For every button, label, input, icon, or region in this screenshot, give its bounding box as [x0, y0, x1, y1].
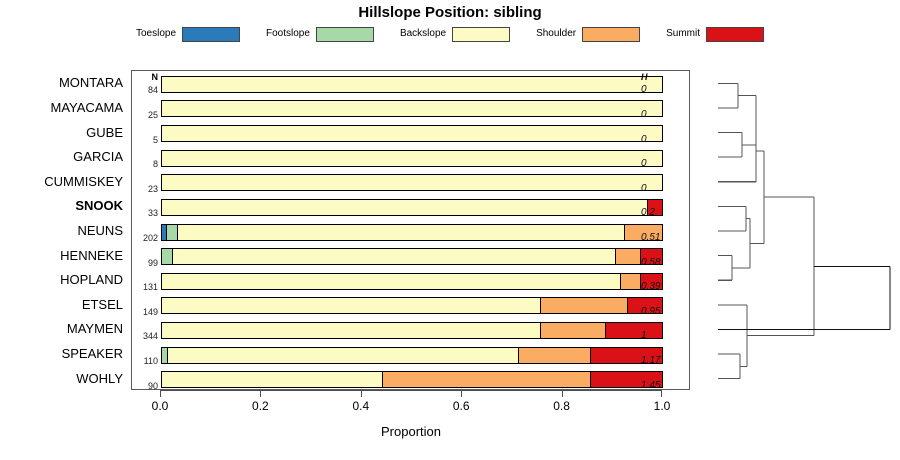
x-tick — [260, 390, 261, 397]
bar-row — [161, 347, 663, 364]
x-tick — [562, 390, 563, 397]
h-value: 0.51 — [641, 233, 660, 243]
row-label-wohly: WOHLY — [76, 372, 123, 385]
bar-row — [161, 125, 663, 142]
bar-row — [161, 150, 663, 167]
bar-row — [161, 371, 663, 388]
legend-label-toeslope: Toeslope — [136, 29, 176, 39]
bar-segment-backslope — [162, 200, 647, 215]
bar-segment-backslope — [162, 101, 662, 116]
x-tick-label: 1.0 — [654, 400, 671, 412]
x-axis-label: Proportion — [160, 425, 662, 438]
legend-swatch-toeslope — [182, 27, 240, 42]
h-value: 0.95 — [641, 307, 660, 317]
legend-item-summit: Summit — [666, 27, 764, 42]
bar-segment-shoulder — [540, 323, 605, 338]
bar-segment-backslope — [162, 126, 662, 141]
bar-segment-backslope — [177, 225, 625, 240]
n-value: 110 — [144, 357, 158, 366]
legend-swatch-summit — [706, 27, 764, 42]
legend-item-shoulder: Shoulder — [536, 27, 640, 42]
h-value: 0.39 — [641, 282, 660, 292]
n-value: 33 — [148, 209, 158, 218]
dendrogram — [700, 70, 900, 390]
row-label-garcia: GARCIA — [73, 150, 123, 163]
h-value: 0 — [641, 184, 647, 194]
x-tick-label: 0.4 — [352, 400, 369, 412]
legend: Toeslope Footslope Backslope Shoulder Su… — [0, 24, 900, 44]
x-tick-label: 0.2 — [252, 400, 269, 412]
bar-segment-shoulder — [518, 348, 590, 363]
bar-segment-backslope — [162, 274, 620, 289]
row-label-cummiskey: CUMMISKEY — [44, 175, 123, 188]
legend-swatch-backslope — [452, 27, 510, 42]
row-label-henneke: HENNEKE — [60, 249, 123, 262]
row-label-speaker: SPEAKER — [62, 347, 123, 360]
stacked-bars — [161, 71, 663, 389]
row-label-hopland: HOPLAND — [60, 273, 123, 286]
bar-segment-shoulder — [382, 372, 590, 387]
legend-label-backslope: Backslope — [400, 29, 446, 39]
legend-label-footslope: Footslope — [266, 29, 310, 39]
bar-segment-footslope — [162, 249, 172, 264]
x-tick-label: 0.6 — [453, 400, 470, 412]
row-label-gube: GUBE — [86, 126, 123, 139]
bar-segment-backslope — [167, 348, 518, 363]
x-tick — [361, 390, 362, 397]
bar-row — [161, 100, 663, 117]
bar-segment-backslope — [162, 151, 662, 166]
x-tick-label: 0.8 — [553, 400, 570, 412]
row-label-maymen: MAYMEN — [67, 322, 123, 335]
bar-segment-backslope — [162, 298, 540, 313]
bar-row — [161, 322, 663, 339]
row-label-mayacama: MAYACAMA — [51, 101, 123, 114]
h-value: 0 — [641, 159, 647, 169]
h-value: 0.2 — [641, 208, 655, 218]
bar-segment-footslope — [166, 225, 177, 240]
n-value: 8 — [153, 160, 158, 169]
n-column-header: N — [152, 73, 159, 82]
bar-segment-backslope — [162, 372, 382, 387]
bar-segment-backslope — [162, 77, 662, 92]
h-column-header: H — [641, 73, 648, 82]
n-value: 23 — [148, 185, 158, 194]
n-column: N 84255823332029913114934411090 — [132, 71, 161, 389]
row-label-montara: MONTARA — [59, 76, 123, 89]
x-tick-label: 0.0 — [152, 400, 169, 412]
n-value: 202 — [143, 234, 158, 243]
legend-item-footslope: Footslope — [266, 27, 374, 42]
bar-row — [161, 174, 663, 191]
plot-panel: N 84255823332029913114934411090 H 000000… — [131, 70, 690, 390]
dendrogram-svg — [700, 70, 900, 390]
bar-row — [161, 248, 663, 265]
bar-row — [161, 224, 663, 241]
row-label-neuns: NEUNS — [77, 224, 123, 237]
bar-row — [161, 76, 663, 93]
n-value: 5 — [153, 136, 158, 145]
bar-segment-backslope — [162, 323, 540, 338]
row-label-etsel: ETSEL — [82, 298, 123, 311]
bar-row — [161, 273, 663, 290]
h-value: 0 — [641, 85, 647, 95]
bar-row — [161, 199, 663, 216]
legend-swatch-footslope — [316, 27, 374, 42]
h-value: 1 — [641, 331, 647, 341]
x-tick — [160, 390, 161, 397]
x-tick — [461, 390, 462, 397]
h-value: 0.58 — [641, 258, 660, 268]
h-column: H 000000.20.510.580.390.9511.171.45 — [635, 71, 691, 389]
bar-row — [161, 297, 663, 314]
n-value: 90 — [148, 382, 158, 391]
x-tick — [661, 390, 662, 397]
h-value: 1.17 — [641, 356, 660, 366]
legend-item-backslope: Backslope — [400, 27, 510, 42]
legend-label-shoulder: Shoulder — [536, 29, 576, 39]
n-value: 99 — [148, 259, 158, 268]
n-value: 25 — [148, 111, 158, 120]
bar-segment-shoulder — [540, 298, 628, 313]
n-value: 344 — [143, 332, 158, 341]
n-value: 131 — [143, 283, 158, 292]
h-value: 0 — [641, 110, 647, 120]
bar-segment-backslope — [162, 175, 662, 190]
row-label-snook: SNOOK — [75, 199, 123, 212]
legend-item-toeslope: Toeslope — [136, 27, 240, 42]
page-title: Hillslope Position: sibling — [0, 4, 900, 21]
x-axis: 0.00.20.40.60.81.0 — [160, 390, 662, 391]
legend-swatch-shoulder — [582, 27, 640, 42]
bar-segment-backslope — [172, 249, 615, 264]
n-value: 84 — [148, 86, 158, 95]
row-label-column: MONTARAMAYACAMAGUBEGARCIACUMMISKEYSNOOKN… — [0, 70, 127, 390]
legend-label-summit: Summit — [666, 29, 700, 39]
n-value: 149 — [143, 308, 158, 317]
h-value: 0 — [641, 135, 647, 145]
